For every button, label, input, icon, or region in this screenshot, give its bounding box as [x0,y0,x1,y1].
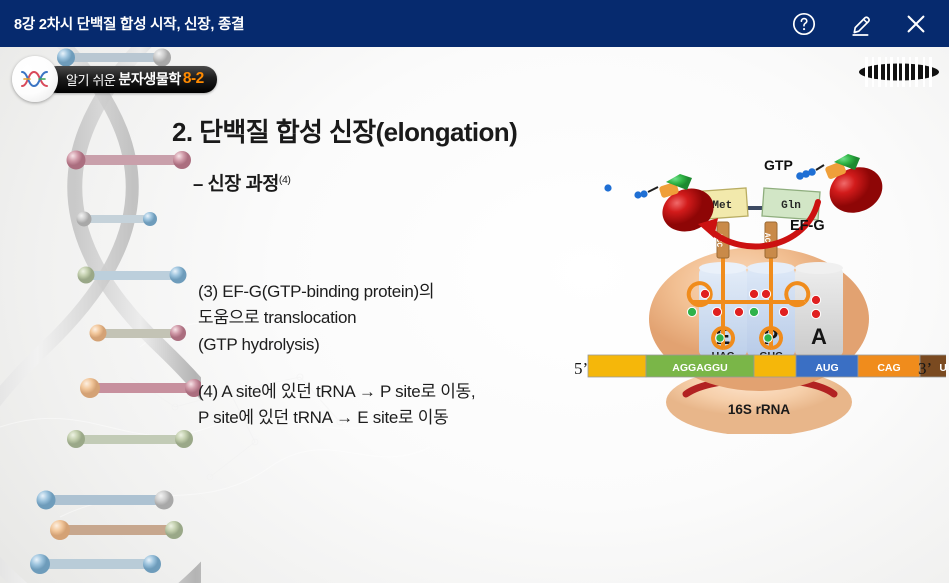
mrna-codon-label: AGGAGGU [672,362,727,374]
slide-heading: 2. 단백질 합성 신장(elongation) [172,112,517,149]
window-titlebar: 8강 2차시 단백질 합성 시작, 신장, 종결 [0,0,949,47]
mrna-strand: AGGAGGUAUGCAGUGCUGA 5’ 3’ [574,355,946,378]
help-icon[interactable] [789,9,819,39]
dna-helix-decoration [0,47,201,583]
slide-subheading-text: – 신장 과정 [193,173,279,194]
logo-text-easy: 알기 쉬운 [66,70,115,89]
slide-canvas: 알기 쉬운 분자생물학 8-2 2. 단백질 합성 [0,47,949,583]
gln-label: Gln [781,200,801,212]
logo-text-chapter: 8-2 [183,70,204,88]
mrna-codon-label: UGC [939,362,946,374]
mrna-codon-label: AUG [815,362,838,374]
rrna-label: 16S rRNA [728,402,791,417]
five-prime-label: 5’ [574,359,588,378]
mrna-codon-label: CAG [877,362,900,374]
close-icon[interactable] [901,9,931,39]
slide-viewer-window: 8강 2차시 단백질 합성 시작, 신장, 종결 [0,0,949,583]
gel-barcode-decoration [857,57,941,87]
mrna-segment [754,355,796,377]
pen-edit-icon[interactable] [845,9,875,39]
dna-helix-icon [12,56,58,102]
slide-subheading-superscript: (4) [279,174,291,186]
page-title: 8강 2차시 단백질 합성 시작, 신장, 종결 [14,13,244,34]
logo-plate: 알기 쉬운 분자생물학 8-2 [44,66,217,93]
slide-subheading: – 신장 과정(4) [193,170,291,196]
logo-text-subject: 분자생물학 [118,69,180,89]
ribosome-translocation-diagram: 16S rRNA E P A UAC [568,152,946,434]
gtp-label: GTP [764,157,793,173]
site-a-label: A [811,324,827,349]
efg-released [604,174,719,238]
mrna-segment [588,355,646,377]
efg-label: EF-G [790,218,825,234]
body-item-3: (3) EF-G(GTP-binding protein)의 도움으로 tran… [198,279,434,358]
body-item-4: (4) A site에 있던 tRNA → P site로 이동, P site… [198,379,475,432]
three-prime-label: 3’ [918,359,932,378]
titlebar-actions [789,9,935,39]
course-logo-badge: 알기 쉬운 분자생물학 8-2 [12,65,217,93]
mrna-segments: AGGAGGUAUGCAGUGCUGA [588,355,946,377]
